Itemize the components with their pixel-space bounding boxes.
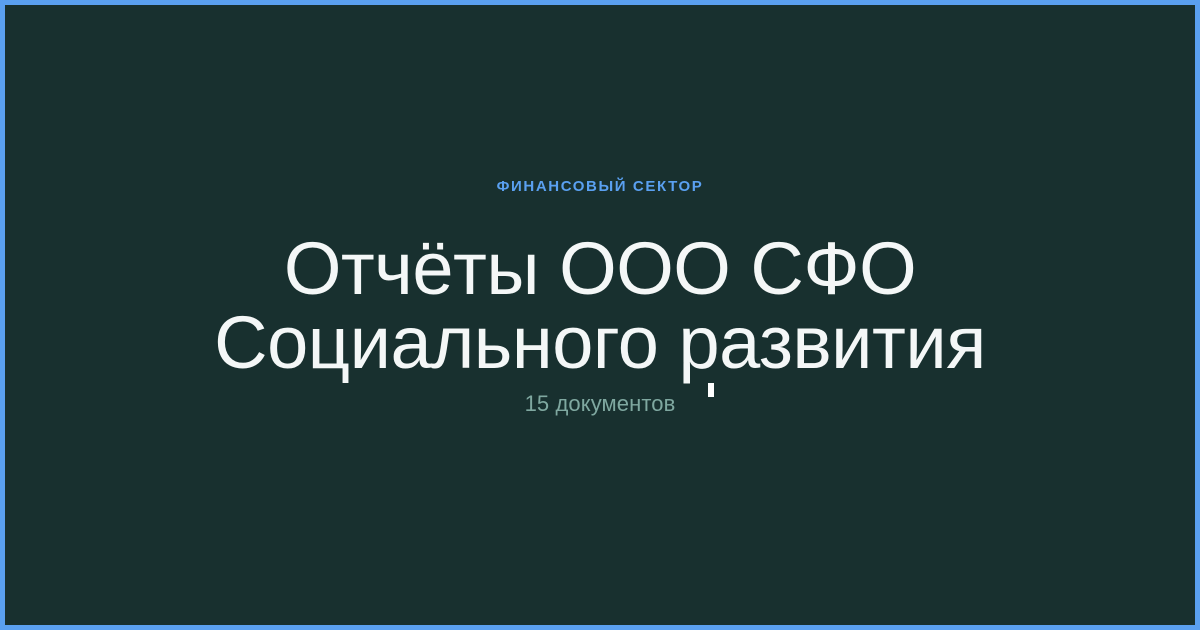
category-eyebrow: ФИНАНСОВЫЙ СЕКТОР <box>497 179 704 194</box>
page-title: Отчёты ООО СФО Социального развития <box>120 232 1080 379</box>
card-content-block: ФИНАНСОВЫЙ СЕКТОР Отчёты ООО СФО Социаль… <box>120 179 1080 415</box>
caret-artifact <box>708 383 714 397</box>
og-preview-card: ФИНАНСОВЫЙ СЕКТОР Отчёты ООО СФО Социаль… <box>0 0 1200 630</box>
document-count-subtitle: 15 документов <box>525 393 676 415</box>
